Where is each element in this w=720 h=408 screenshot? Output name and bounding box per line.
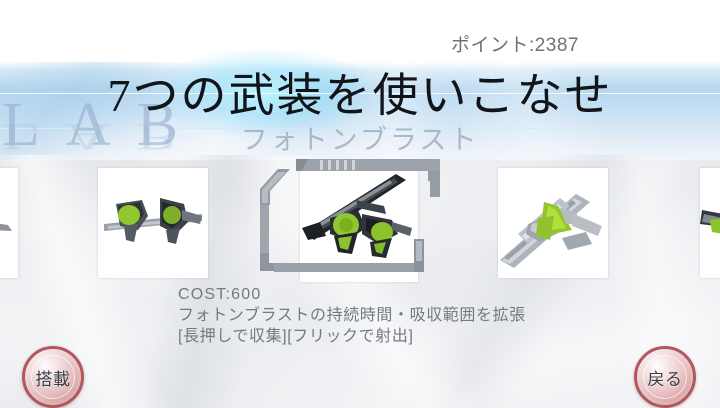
game-screen: LAB LAB ポイント:2387 7つの武装を使いこなせ フォトンブラスト: [0, 0, 720, 408]
weapon-thumbnail-icon: [700, 168, 720, 278]
back-button-ring: [643, 355, 687, 399]
list-item[interactable]: [0, 168, 18, 278]
points-display: ポイント:2387: [451, 30, 579, 57]
weapon-description: COST:600 フォトンブラストの持続時間・吸収範囲を拡張 [長押しで収集][…: [178, 284, 598, 347]
weapon-effect: フォトンブラストの持続時間・吸収範囲を拡張: [178, 305, 598, 326]
equip-button-ring: [31, 355, 75, 399]
weapon-controls: [長押しで収集][フリックで射出]: [178, 326, 598, 347]
selected-weapon-name: フォトンブラスト: [0, 118, 720, 157]
weapon-thumbnail-icon: [498, 168, 608, 278]
weapon-cost: COST:600: [178, 284, 598, 305]
page-title: 7つの武装を使いこなせ: [0, 70, 720, 122]
list-item[interactable]: [498, 168, 608, 278]
equip-button[interactable]: 搭載: [22, 346, 84, 408]
list-item[interactable]: [300, 170, 418, 282]
weapon-carousel[interactable]: [0, 164, 720, 284]
back-button[interactable]: 戻る: [634, 346, 696, 408]
list-item[interactable]: [98, 168, 208, 278]
list-item[interactable]: [700, 168, 720, 278]
weapon-thumbnail-icon: [300, 170, 418, 282]
weapon-thumbnail-icon: [0, 168, 18, 278]
weapon-thumbnail-icon: [98, 168, 208, 278]
